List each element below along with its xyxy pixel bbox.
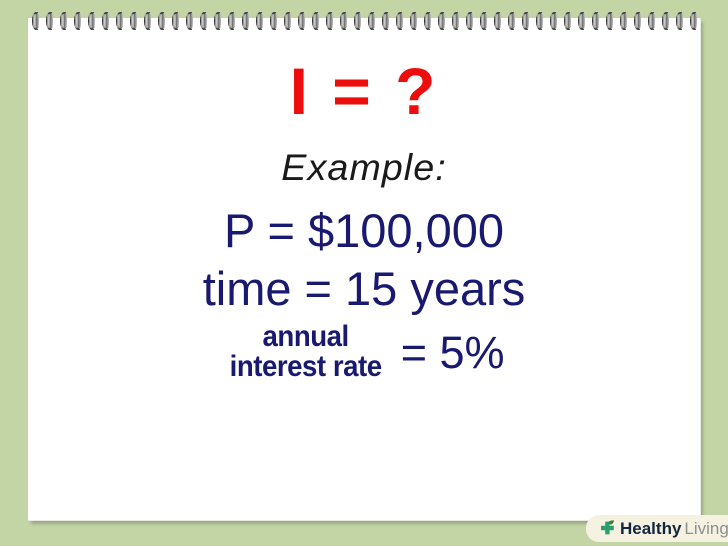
brand-secondary: Living: [684, 519, 728, 538]
interest-rate-label-stack: annual interest rate: [230, 322, 382, 382]
interest-rate-line: annual interest rate = 5%: [28, 316, 700, 382]
medical-cross-leaf-icon: [598, 519, 617, 538]
page-title: I = ?: [28, 18, 700, 126]
watermark-brand-text: HealthyLiving: [620, 520, 728, 537]
interest-rate-value: = 5%: [401, 330, 505, 375]
principal-line: P = $100,000: [28, 188, 700, 258]
interest-rate-label-top: annual: [263, 322, 349, 352]
brand-primary: Healthy: [620, 519, 681, 538]
slide-content: I = ? Example: P = $100,000 time = 15 ye…: [28, 18, 700, 520]
example-label: Example:: [21, 126, 706, 188]
interest-rate-label-bottom: interest rate: [230, 352, 382, 382]
time-line: time = 15 years: [28, 258, 700, 316]
watermark-logo: HealthyLiving: [586, 515, 728, 542]
